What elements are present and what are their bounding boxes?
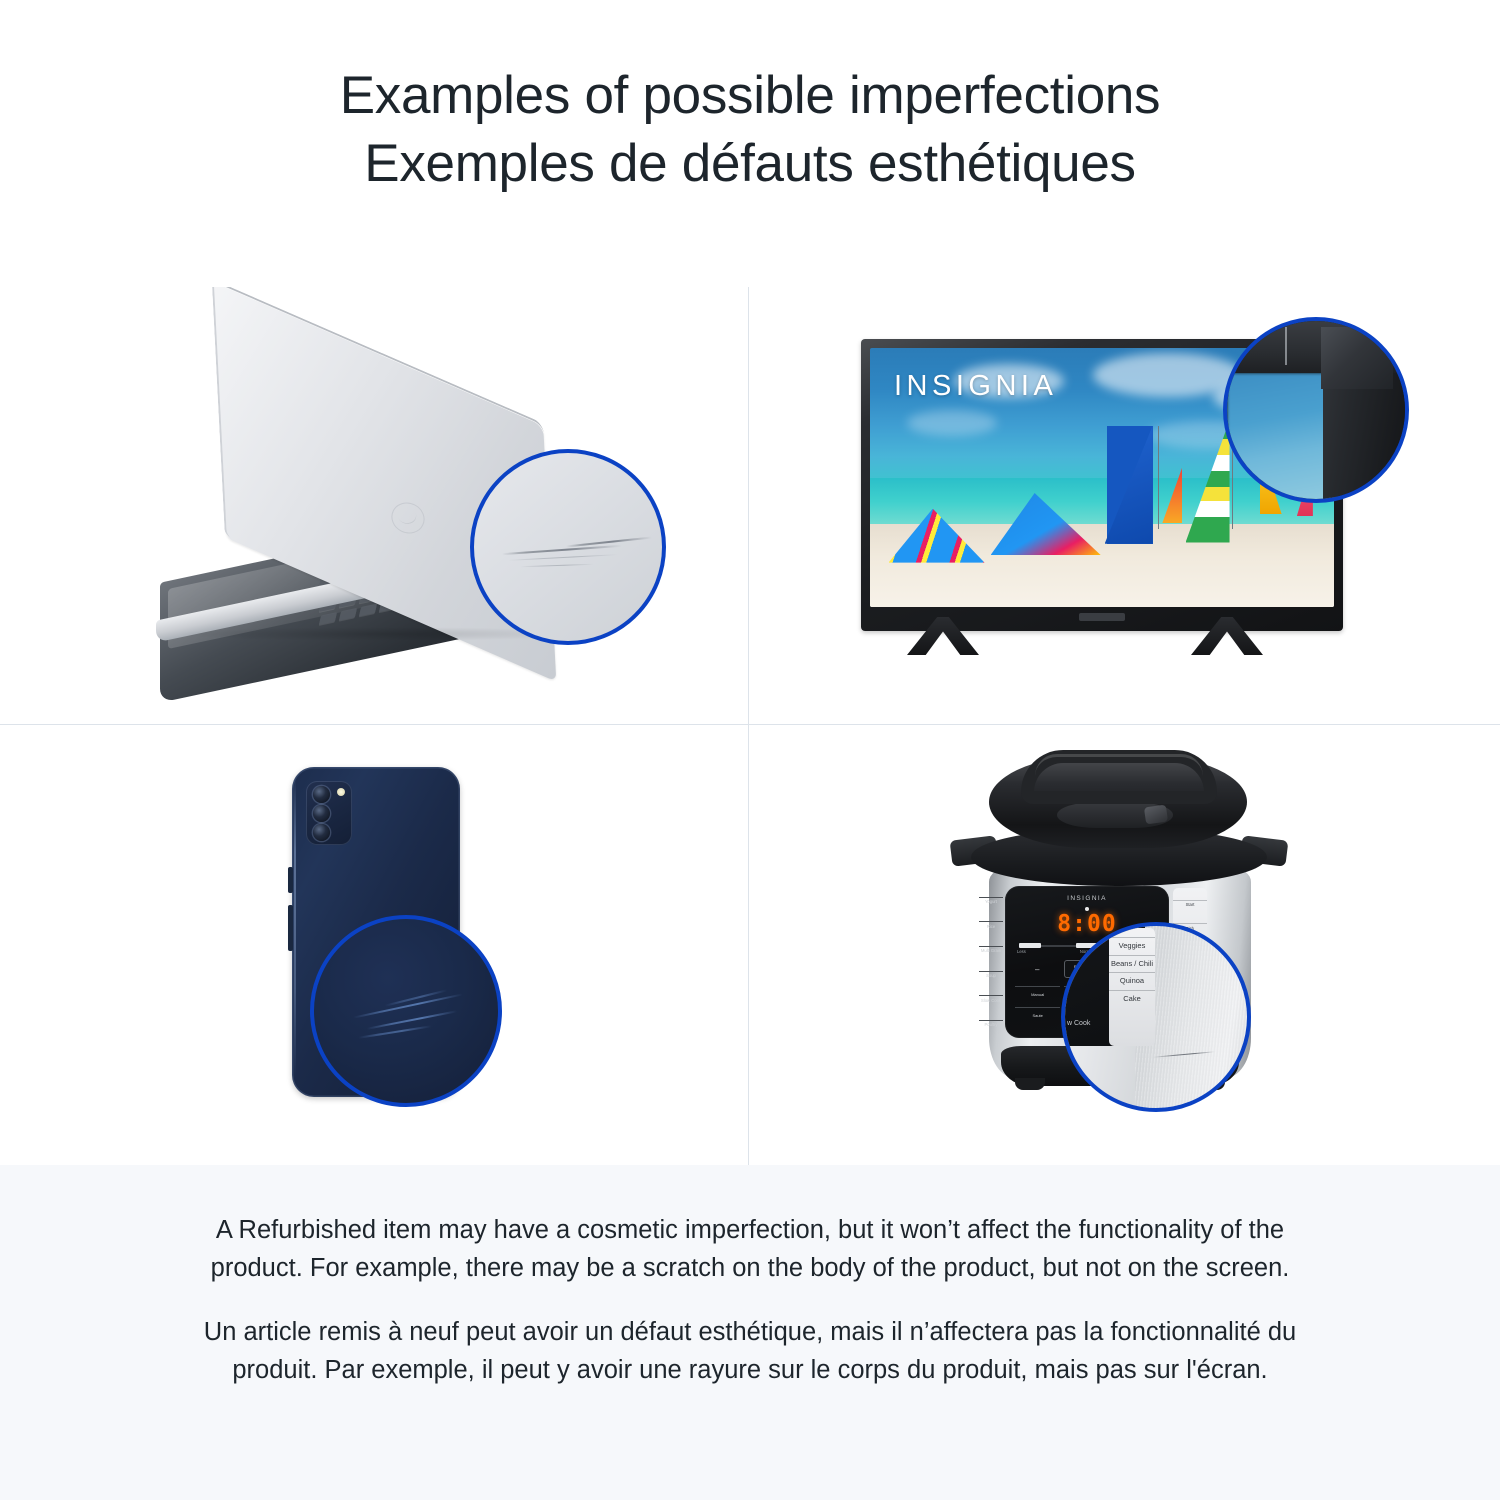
examples-grid: INSIGNIA — [0, 287, 1500, 1165]
magnified-label-delay: lay — [1067, 970, 1076, 977]
magnifier-circle-cooker-scratch: lay w Cook Veggies Beans / Chili Quinoa … — [1061, 922, 1251, 1112]
cooker-button-rice[interactable]: Rice — [979, 921, 1003, 929]
cooker-steam-valve — [1144, 805, 1168, 825]
example-cell-smartphone — [0, 725, 748, 1165]
television-illustration: INSIGNIA — [861, 317, 1361, 677]
page-title-french: Exemples de défauts esthétiques — [364, 130, 1135, 198]
cooker-button-poultry[interactable]: Poultry — [979, 1020, 1003, 1028]
magnifier-circle-phone-scratch — [310, 915, 502, 1107]
magnifier-circle-laptop-scratch — [470, 449, 666, 645]
tv-sail-beach-center — [991, 493, 1101, 555]
magnified-key-strip: Veggies Beans / Chili Quinoa Cake — [1109, 928, 1155, 1046]
cooker-button-slowcook[interactable]: Slow Cook — [979, 995, 1003, 1003]
description-panel: A Refurbished item may have a cosmetic i… — [0, 1165, 1500, 1500]
example-cell-pressure-cooker: Yogurt Rice Multi Grain Soup Slow Cook P… — [749, 725, 1500, 1165]
description-english: A Refurbished item may have a cosmetic i… — [185, 1211, 1315, 1287]
phone-volume-button — [288, 905, 293, 951]
cooker-foot-left — [1015, 1078, 1045, 1090]
imperfections-infographic: Examples of possible imperfections Exemp… — [0, 0, 1500, 1500]
magnified-key-cake: Cake — [1109, 990, 1155, 1004]
smartphone-illustration — [262, 767, 492, 1117]
phone-camera-module — [306, 781, 352, 845]
magnified-key-quinoa: Quinoa — [1109, 972, 1155, 986]
camera-lens-icon — [313, 786, 330, 803]
camera-lens-icon — [313, 824, 330, 841]
tv-sail-striped — [1186, 421, 1230, 543]
cooker-button-multigrain[interactable]: Multi Grain — [979, 946, 1003, 954]
cooker-left-button-column[interactable]: Yogurt Rice Multi Grain Soup Slow Cook P… — [979, 888, 1003, 1036]
cooker-button-saute[interactable]: Saute — [1015, 1007, 1060, 1023]
pressure-cooker-illustration: Yogurt Rice Multi Grain Soup Slow Cook P… — [949, 750, 1309, 1130]
tv-brand-logo: INSIGNIA — [894, 370, 1057, 403]
cooker-button-start[interactable]: Start — [1173, 900, 1207, 908]
tv-sail-blue — [1107, 426, 1153, 544]
page-title-english: Examples of possible imperfections — [340, 62, 1161, 130]
camera-flash-icon — [337, 788, 345, 796]
cooker-button-minus[interactable]: – — [1035, 966, 1039, 974]
slider-label-less: Less — [1017, 949, 1026, 954]
tv-sail-beach-left — [889, 509, 985, 563]
example-cell-television: INSIGNIA — [749, 287, 1500, 724]
magnified-label-slowcook: w Cook — [1067, 1020, 1090, 1027]
magnified-key-beanschili: Beans / Chili — [1109, 955, 1155, 969]
cooker-handle-highlight — [1035, 754, 1203, 776]
cooker-button-yogurt[interactable]: Yogurt — [979, 897, 1003, 905]
camera-lens-icon — [313, 805, 330, 822]
magnified-key-veggies: Veggies — [1109, 937, 1155, 951]
cooker-brand-logo: INSIGNIA — [1005, 895, 1169, 902]
page-header: Examples of possible imperfections Exemp… — [0, 0, 1500, 268]
tv-sail-red — [1162, 467, 1182, 523]
cooker-button-manual[interactable]: Manual — [1015, 986, 1060, 1002]
phone-power-button — [288, 867, 293, 893]
magnified-tv-picture — [1227, 373, 1335, 503]
magnifier-circle-tv-bezel — [1223, 317, 1409, 503]
magnified-tv-nick — [1285, 327, 1287, 365]
phone-edge-highlight — [294, 777, 296, 1077]
tv-logo-badge — [1079, 613, 1125, 621]
description-french: Un article remis à neuf peut avoir un dé… — [185, 1313, 1315, 1389]
cooker-button-soup[interactable]: Soup — [979, 971, 1003, 979]
example-cell-laptop — [0, 287, 748, 724]
laptop-illustration — [160, 357, 700, 677]
magnified-tv-corner — [1321, 327, 1393, 389]
